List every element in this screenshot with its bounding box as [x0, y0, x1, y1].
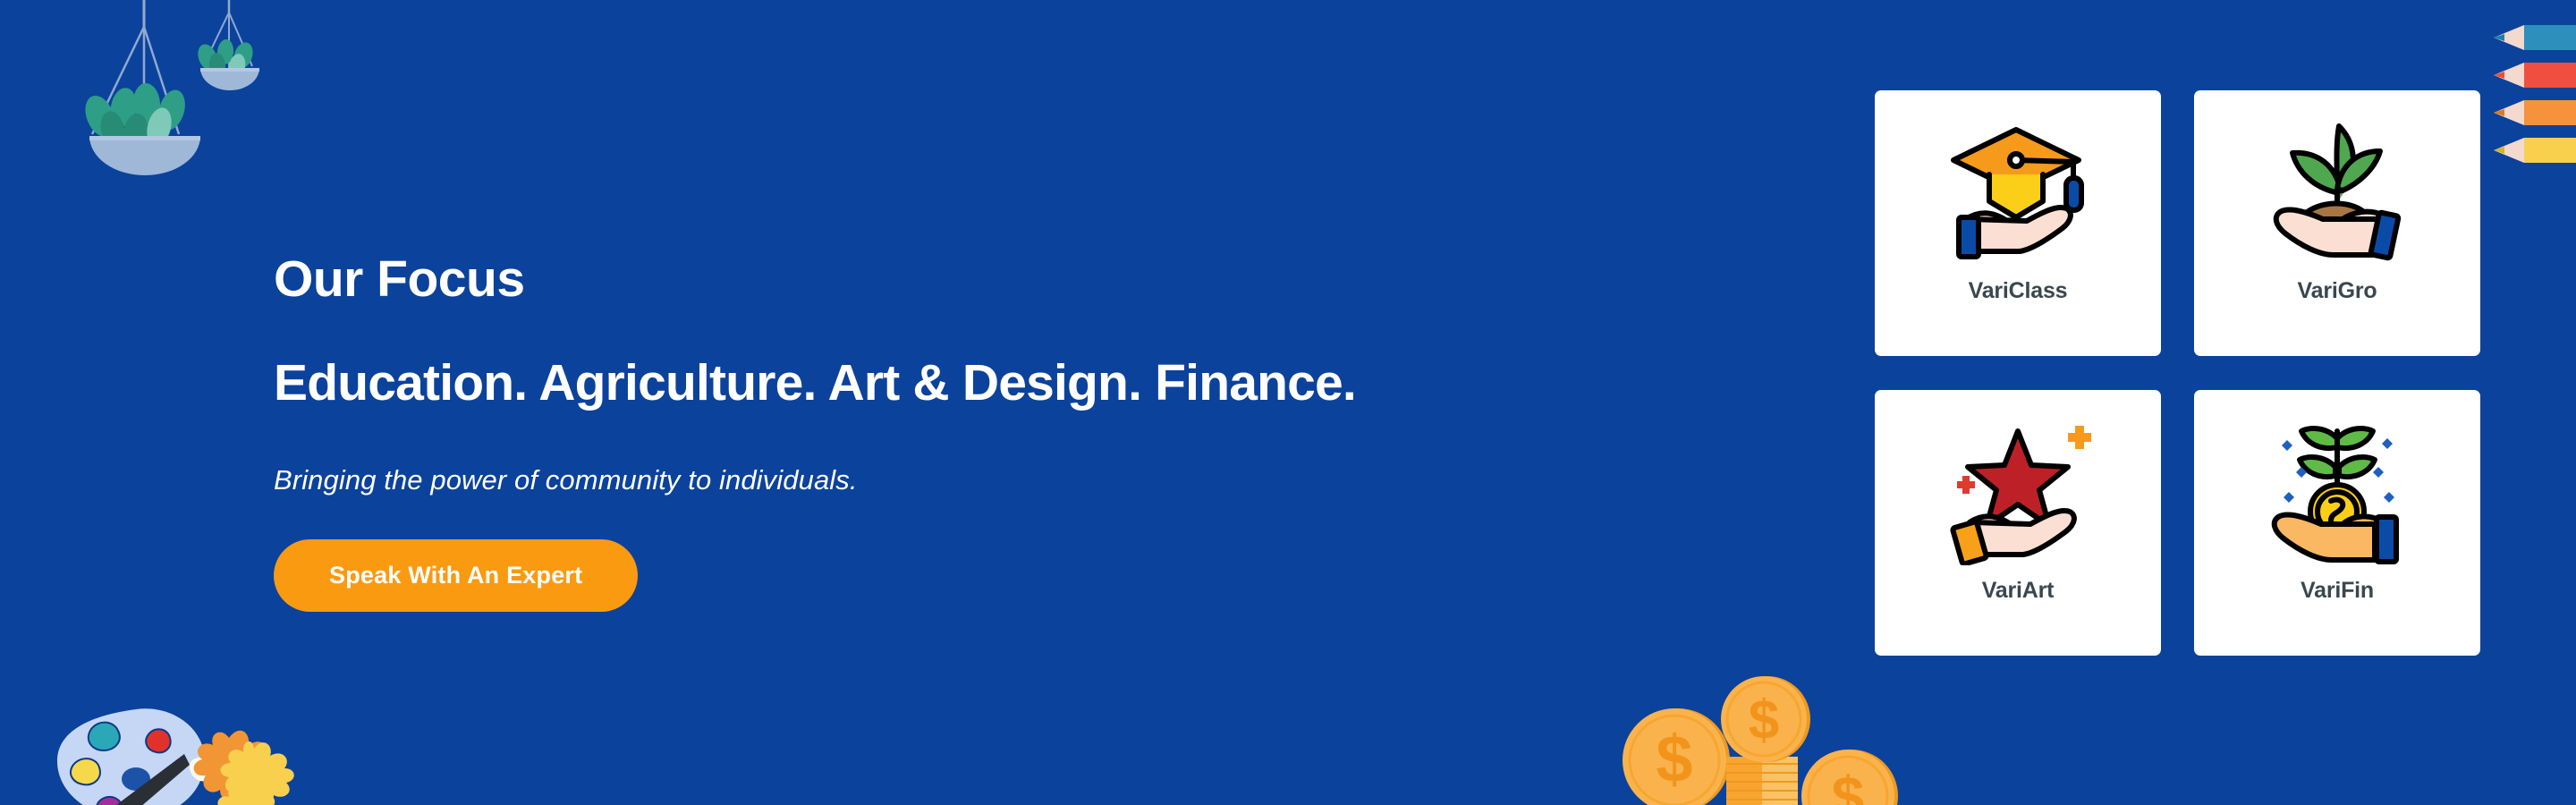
svg-text:$: $ — [1832, 764, 1865, 805]
graduation-cap-in-hand-icon — [1937, 114, 2098, 266]
page-tagline: Bringing the power of community to indiv… — [274, 464, 1741, 496]
colored-pencils-icon — [2469, 16, 2576, 168]
focus-card-variart[interactable]: VariArt — [1875, 390, 2161, 656]
sprout-in-hand-icon — [2257, 114, 2418, 266]
focus-card-label: VariGro — [2298, 278, 2377, 304]
hero-copy: Our Focus Education. Agriculture. Art & … — [274, 253, 1741, 612]
focus-card-label: VariClass — [1969, 278, 2068, 304]
coin-plant-in-hand-icon — [2257, 413, 2418, 565]
focus-areas-grid: VariClass VariGro — [1875, 90, 2480, 656]
focus-card-varifin[interactable]: VariFin — [2194, 390, 2480, 656]
focus-card-variclass[interactable]: VariClass — [1875, 90, 2161, 356]
focus-card-label: VariFin — [2301, 578, 2374, 604]
focus-card-varigro[interactable]: VariGro — [2194, 90, 2480, 356]
hanging-planters-icon — [54, 0, 286, 179]
svg-text:$: $ — [1656, 722, 1692, 796]
speak-with-an-expert-button[interactable]: Speak With An Expert — [274, 539, 638, 612]
hero-banner: $ $ — [0, 0, 2576, 805]
star-in-hand-icon — [1937, 413, 2098, 565]
page-eyebrow: Our Focus — [274, 253, 1741, 307]
focus-card-label: VariArt — [1982, 578, 2055, 604]
page-title: Education. Agriculture. Art & Design. Fi… — [274, 357, 1741, 411]
paint-palette-icon — [18, 695, 313, 805]
svg-text:$: $ — [1749, 690, 1779, 751]
dollar-coins-icon: $ $ — [1619, 671, 1914, 805]
